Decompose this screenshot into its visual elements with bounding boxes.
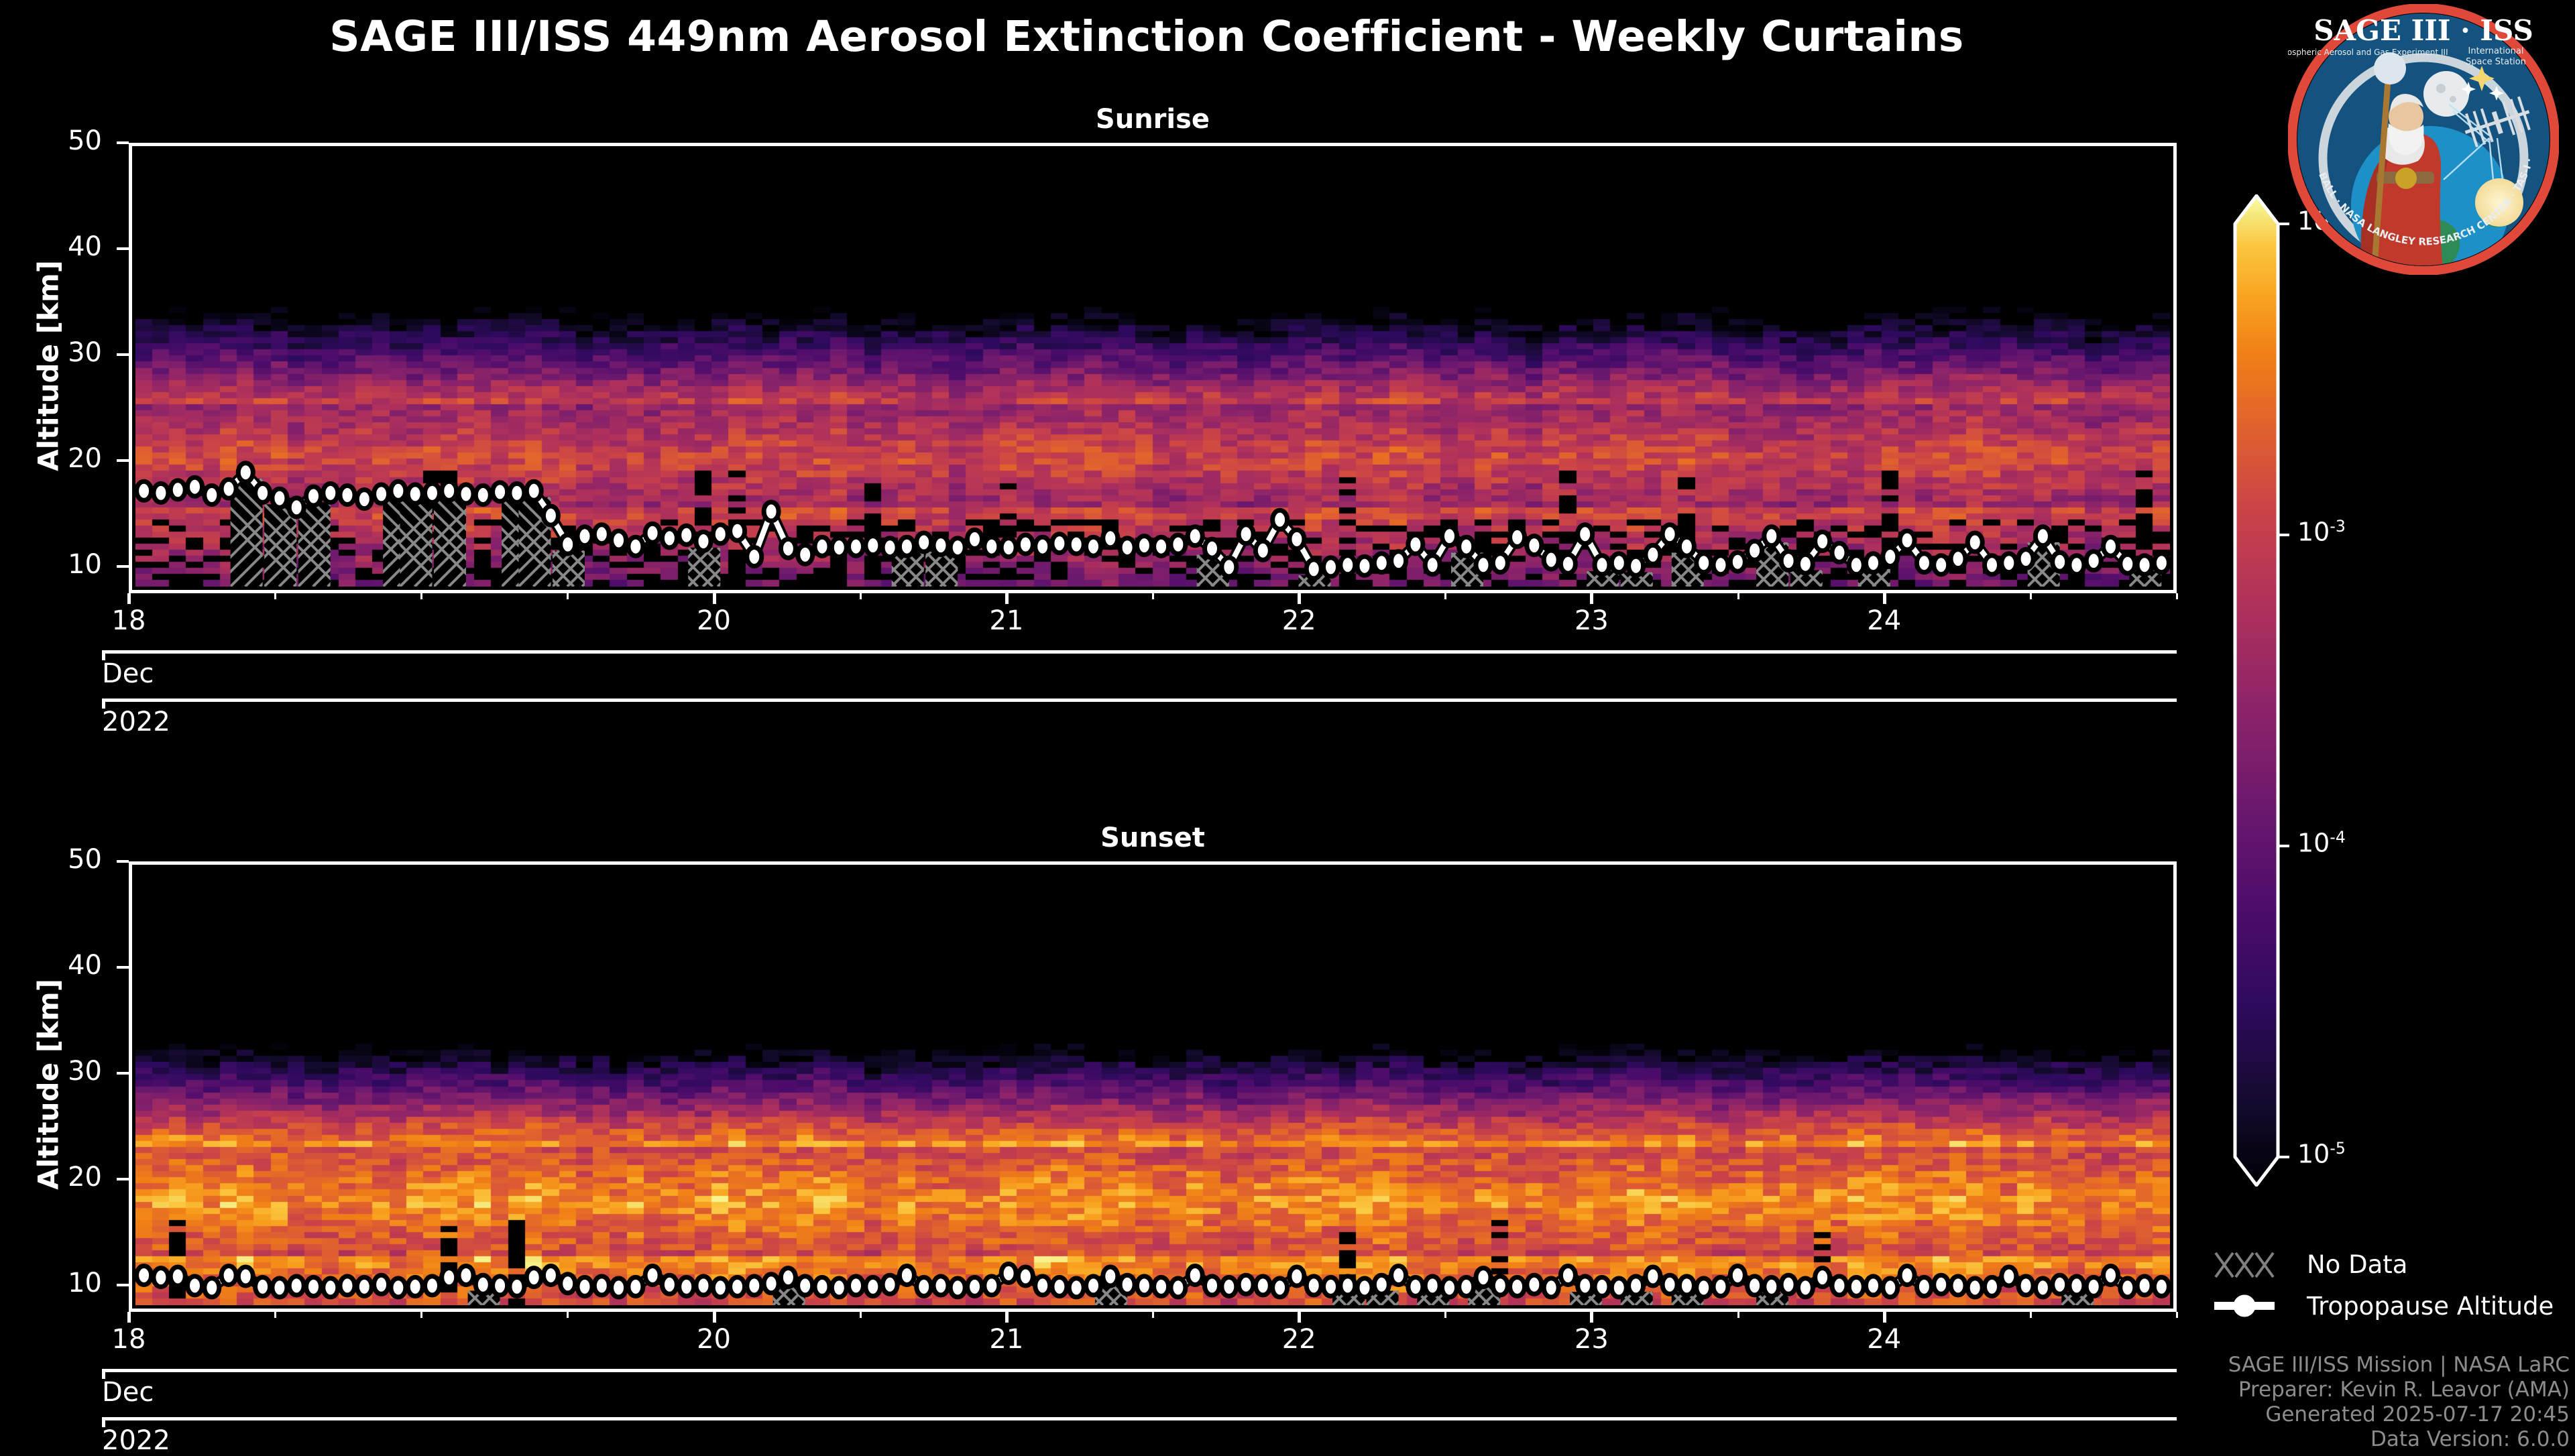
y-tick-mark [117,353,129,356]
x-minor-tick [128,1312,130,1318]
y-axis-label: Altitude [km] [32,897,65,1272]
svg-text:Space Station: Space Station [2466,57,2526,67]
x-level-rule [102,699,2177,702]
svg-text:SAGE III · ISS: SAGE III · ISS [2313,14,2533,47]
x-level-label: Dec [102,658,154,689]
colorbar-tick-label: 10-3 [2297,517,2346,547]
x-minor-tick [1737,593,1739,599]
x-level-rule [102,1417,2177,1420]
footer-line-preparer: Preparer: Kevin R. Leavor (AMA) [1966,1378,2570,1402]
x-minor-tick [2030,1312,2032,1318]
x-minor-tick [1152,593,1154,599]
y-tick-mark [117,459,129,462]
footer-line-version: Data Version: 6.0.0 [1966,1427,2570,1452]
x-minor-tick [1884,1312,1886,1318]
no-data-hatch-icon [2213,1246,2292,1282]
x-minor-tick [128,593,130,599]
colorbar-tick-label: 10-5 [2297,1139,2346,1169]
y-tick-mark [117,1072,129,1075]
x-minor-tick [1298,593,1300,599]
x-tick-label: 21 [953,605,1060,636]
x-minor-tick [567,1312,569,1318]
x-minor-tick [2176,1312,2178,1318]
x-tick-label: 18 [75,1324,182,1355]
colorbar[interactable] [2233,194,2280,1187]
colorbar-gradient [2233,194,2280,1187]
x-tick-label: 20 [661,1324,768,1355]
x-minor-tick [1006,593,1008,599]
panel-sunset: Sunset [129,861,2177,1312]
legend-item-no-data: No Data [2213,1243,2562,1285]
x-tick-label: 23 [1538,605,1645,636]
x-minor-tick [420,593,422,599]
legend: No Data Tropopause Altitude [2213,1243,2562,1327]
plot-area-sunset[interactable] [129,861,2177,1312]
legend-item-tropopause: Tropopause Altitude [2213,1285,2562,1327]
sage-iii-iss-mission-patch-logo: BALL · NASA LANGLEY RESEARCH CENTER · TA… [2288,4,2559,275]
x-minor-tick [1152,1312,1154,1318]
x-minor-tick [1591,593,1593,599]
panel-title-sunrise: Sunrise [129,104,2177,135]
x-tick-label: 24 [1831,605,1938,636]
y-tick-mark [117,1178,129,1180]
panel-sunrise: Sunrise [129,143,2177,593]
x-level-label: 2022 [102,707,170,737]
x-minor-tick [567,593,569,599]
x-minor-tick [713,593,716,599]
x-level-rule [102,1369,2177,1372]
y-tick-mark [117,1284,129,1286]
x-minor-tick [860,1312,862,1318]
y-tick-label: 50 [21,125,102,156]
colorbar-tick-mark [2279,845,2289,847]
x-minor-tick [2030,593,2032,599]
footer-credits: SAGE III/ISS Mission | NASA LaRC Prepare… [1966,1353,2570,1452]
y-tick-mark [117,565,129,568]
tropopause-line-marker-icon [2213,1288,2292,1324]
colorbar-tick-mark [2279,534,2289,536]
x-minor-tick [1591,1312,1593,1318]
x-minor-tick [1298,1312,1300,1318]
x-minor-tick [860,593,862,599]
panel-title-sunset: Sunset [129,823,2177,853]
y-tick-mark [117,860,129,863]
legend-label-tropopause: Tropopause Altitude [2292,1292,2554,1321]
x-minor-tick [1444,1312,1446,1318]
svg-text:International: International [2468,46,2524,56]
y-tick-label: 10 [21,1268,102,1298]
x-level-label: 2022 [102,1425,170,1456]
y-tick-label: 50 [21,844,102,875]
x-minor-tick [420,1312,422,1318]
x-minor-tick [1444,593,1446,599]
x-level-label: Dec [102,1377,154,1408]
x-tick-label: 18 [75,605,182,636]
heatmap-sunrise [135,149,2170,587]
x-tick-label: 20 [661,605,768,636]
y-tick-label: 10 [21,549,102,580]
colorbar-tick-mark [2279,1156,2289,1158]
y-tick-mark [117,247,129,250]
x-minor-tick [713,1312,716,1318]
y-tick-mark [117,966,129,969]
x-tick-label: 24 [1831,1324,1938,1355]
page-title: SAGE III/ISS 449nm Aerosol Extinction Co… [80,12,2213,61]
x-tick-label: 21 [953,1324,1060,1355]
plot-area-sunrise[interactable] [129,143,2177,593]
x-minor-tick [1737,1312,1739,1318]
colorbar-tick-label: 10-4 [2297,828,2346,858]
x-minor-tick [1884,593,1886,599]
heatmap-sunset [135,868,2170,1305]
x-minor-tick [1006,1312,1008,1318]
x-tick-label: 22 [1245,605,1353,636]
legend-label-no-data: No Data [2292,1250,2407,1279]
x-minor-tick [274,593,276,599]
footer-line-mission: SAGE III/ISS Mission | NASA LaRC [1966,1353,2570,1378]
x-minor-tick [274,1312,276,1318]
svg-text:Stratospheric Aerosol and Gas: Stratospheric Aerosol and Gas Experiment… [2288,48,2448,57]
footer-line-generated: Generated 2025-07-17 20:45 [1966,1402,2570,1427]
figure-canvas: SAGE III/ISS 449nm Aerosol Extinction Co… [0,0,2575,1448]
x-tick-label: 23 [1538,1324,1645,1355]
y-tick-mark [117,141,129,144]
y-axis-label: Altitude [km] [32,178,65,554]
x-level-rule [102,650,2177,654]
x-minor-tick [2176,593,2178,599]
x-tick-label: 22 [1245,1324,1353,1355]
